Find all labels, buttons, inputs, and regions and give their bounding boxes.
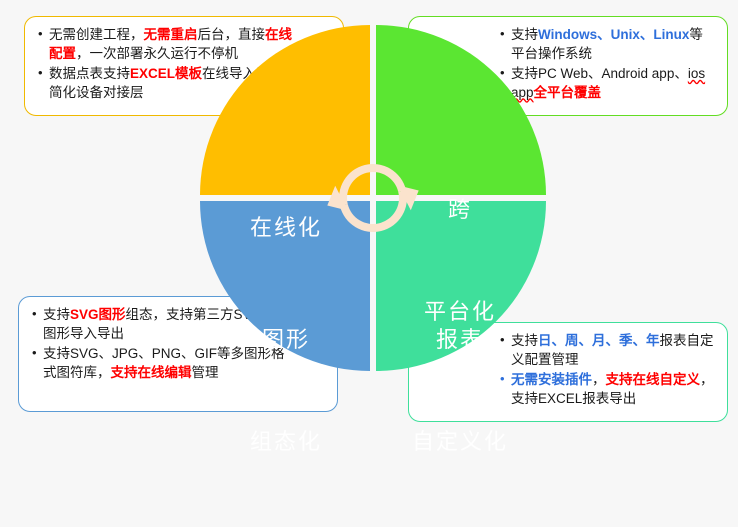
text-run-emphasis: EXCEL模板 bbox=[130, 66, 202, 81]
quadrant-fill-cross-platform bbox=[376, 25, 546, 195]
wheel-quadrant-reports[interactable] bbox=[376, 201, 546, 371]
text-run-emphasis: 无需安装插件 bbox=[511, 372, 592, 387]
wheel-quadrant-cross-platform[interactable] bbox=[376, 25, 546, 195]
text-run-emphasis: 支持在线编辑 bbox=[111, 365, 192, 380]
text-run: ， bbox=[592, 372, 606, 387]
wheel-quadrant-graphics[interactable] bbox=[200, 201, 370, 371]
text-run-emphasis: 日、周、月、季、年 bbox=[538, 333, 660, 348]
quadrant-fill-graphics bbox=[200, 201, 370, 371]
quadrant-label-graphics-line2: 组态化 bbox=[216, 425, 356, 459]
text-run-emphasis: Windows、Unix、Linux bbox=[538, 27, 689, 42]
text-run-emphasis: 支持在线自定义 bbox=[606, 372, 701, 387]
list-item: 无需安装插件，支持在线自定义，支持EXCEL报表导出 bbox=[499, 371, 715, 408]
quadrant-label-reports-line2: 自定义化 bbox=[390, 425, 530, 459]
text-run: 无需创建工程， bbox=[49, 27, 144, 42]
text-run-emphasis: SVG图形 bbox=[70, 307, 126, 322]
text-run-emphasis: 无需重启 bbox=[144, 27, 198, 42]
wheel-quadrant-online[interactable] bbox=[200, 25, 370, 195]
quadrant-fill-reports bbox=[376, 201, 546, 371]
text-run: 数据点表支持 bbox=[49, 66, 130, 81]
feature-wheel: 在线化 跨 平台化 图形 组态化 报表 自定义化 bbox=[200, 25, 546, 371]
text-run: 支持 bbox=[43, 307, 70, 322]
quadrant-fill-online bbox=[200, 25, 370, 195]
